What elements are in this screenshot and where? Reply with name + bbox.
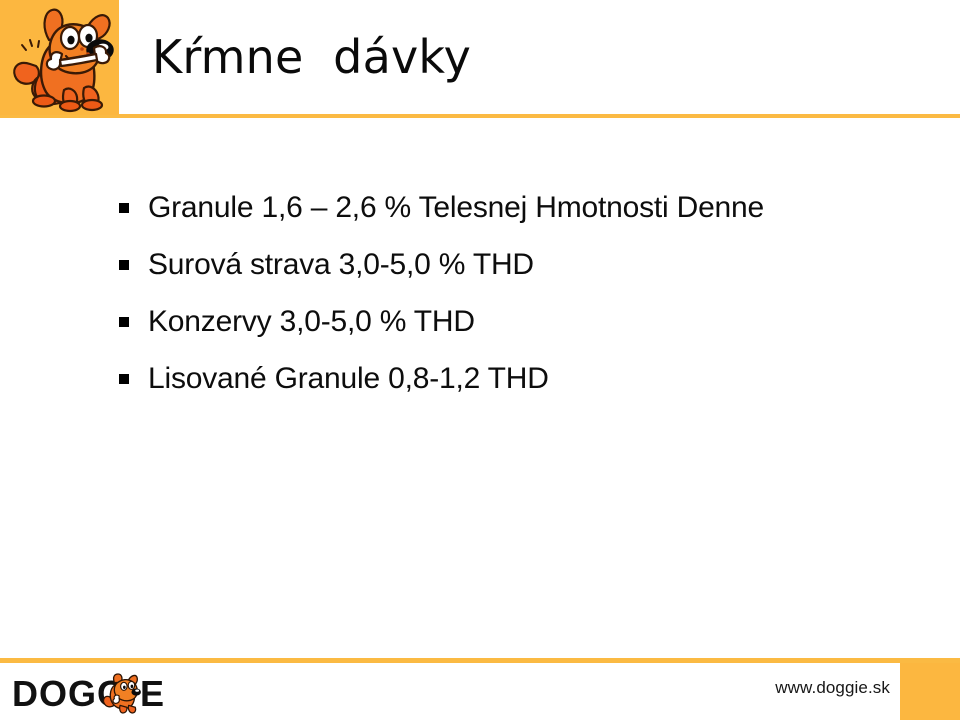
page-title: Kŕmne dávky [152,22,932,92]
doggie-brand-logo: DOGG [12,672,212,716]
list-item-label: Konzervy 3,0-5,0 % THD [148,300,900,343]
footer-divider [0,658,960,663]
slide-footer: DOGG [0,658,960,720]
square-bullet-icon [119,203,129,213]
list-item-label: Lisované Granule 0,8-1,2 THD [148,357,900,400]
square-bullet-icon [119,374,129,384]
list-item-label: Granule 1,6 – 2,6 % Telesnej Hmotnosti D… [148,186,900,229]
list-item: Lisované Granule 0,8-1,2 THD [110,357,900,400]
footer-accent-block [900,663,960,720]
header-divider-mask [0,114,119,115]
list-item: Surová strava 3,0-5,0 % THD [110,243,900,286]
list-item: Konzervy 3,0-5,0 % THD [110,300,900,343]
footer-url-label: www.doggie.sk [775,678,890,698]
slide-header: Kŕmne dávky [0,0,960,118]
footer-logo-text-before: DOGG [12,673,126,714]
square-bullet-icon [119,317,129,327]
square-bullet-icon [119,260,129,270]
list-item: Granule 1,6 – 2,6 % Telesnej Hmotnosti D… [110,186,900,229]
list-item-label: Surová strava 3,0-5,0 % THD [148,243,900,286]
footer-logo-text-after: E [140,673,164,714]
header-divider [0,114,960,118]
slide: Kŕmne dávky Granule 1,6 – 2,6 % Telesnej… [0,0,960,720]
header-mascot-block [0,0,119,115]
bullet-list: Granule 1,6 – 2,6 % Telesnej Hmotnosti D… [110,186,900,400]
